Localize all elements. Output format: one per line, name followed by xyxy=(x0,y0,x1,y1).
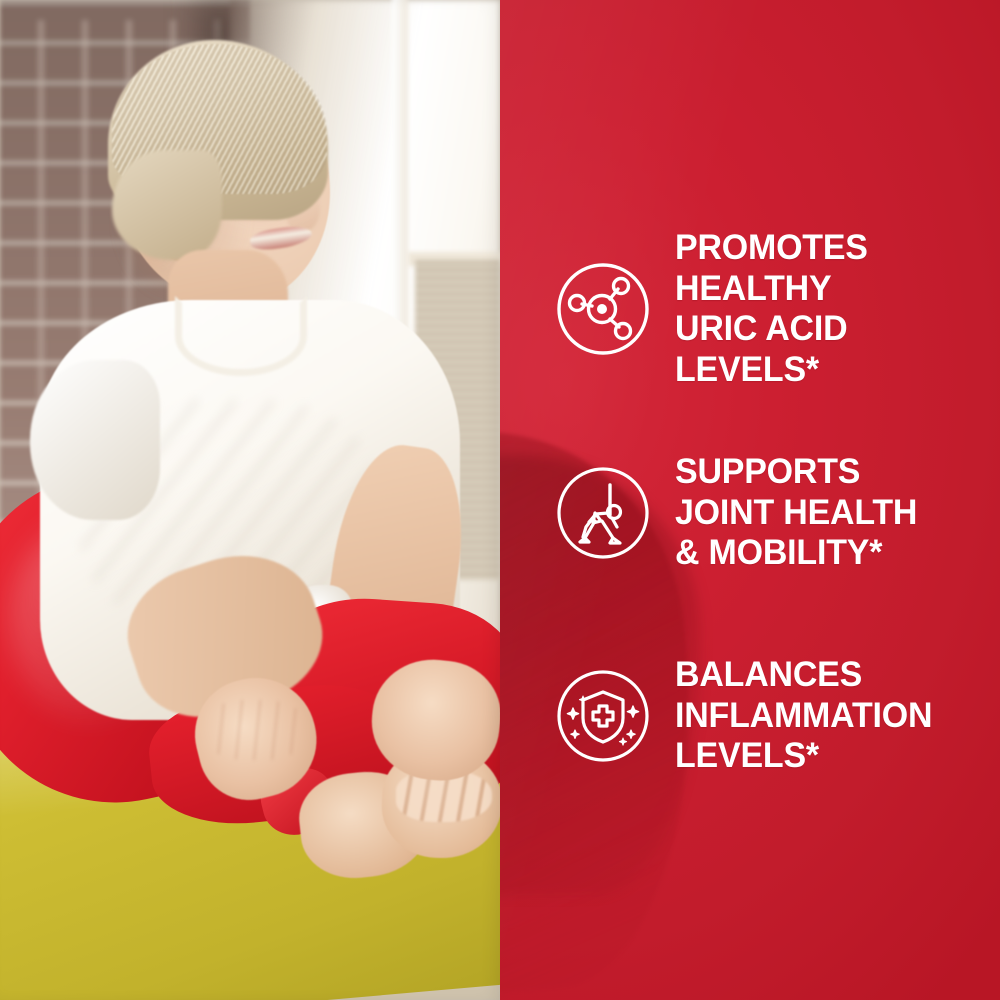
molecule-icon xyxy=(555,261,651,357)
benefit-item-inflammation: BALANCES INFLAMMATION LEVELS* xyxy=(555,655,995,777)
benefit-label: SUPPORTS JOINT HEALTH & MOBILITY* xyxy=(675,452,917,574)
hair-nape xyxy=(112,150,222,260)
benefit-label: PROMOTES HEALTHY URIC ACID LEVELS* xyxy=(675,228,868,390)
tshirt-collar xyxy=(175,296,307,376)
benefits-panel: PROMOTES HEALTHY URIC ACID LEVELS* xyxy=(500,0,1000,1000)
yoga-stretch-icon xyxy=(555,465,651,561)
shield-cross-icon xyxy=(555,668,651,764)
benefit-label: BALANCES INFLAMMATION LEVELS* xyxy=(675,655,932,777)
benefits-list: PROMOTES HEALTHY URIC ACID LEVELS* xyxy=(500,0,1000,1000)
tshirt-sleeve xyxy=(30,360,160,520)
benefit-item-joint-health: SUPPORTS JOINT HEALTH & MOBILITY* xyxy=(555,452,995,574)
product-benefits-banner: PROMOTES HEALTHY URIC ACID LEVELS* xyxy=(0,0,1000,1000)
lifestyle-photo xyxy=(0,0,500,1000)
knuckles xyxy=(205,700,305,760)
benefit-item-uric-acid: PROMOTES HEALTHY URIC ACID LEVELS* xyxy=(555,228,995,390)
